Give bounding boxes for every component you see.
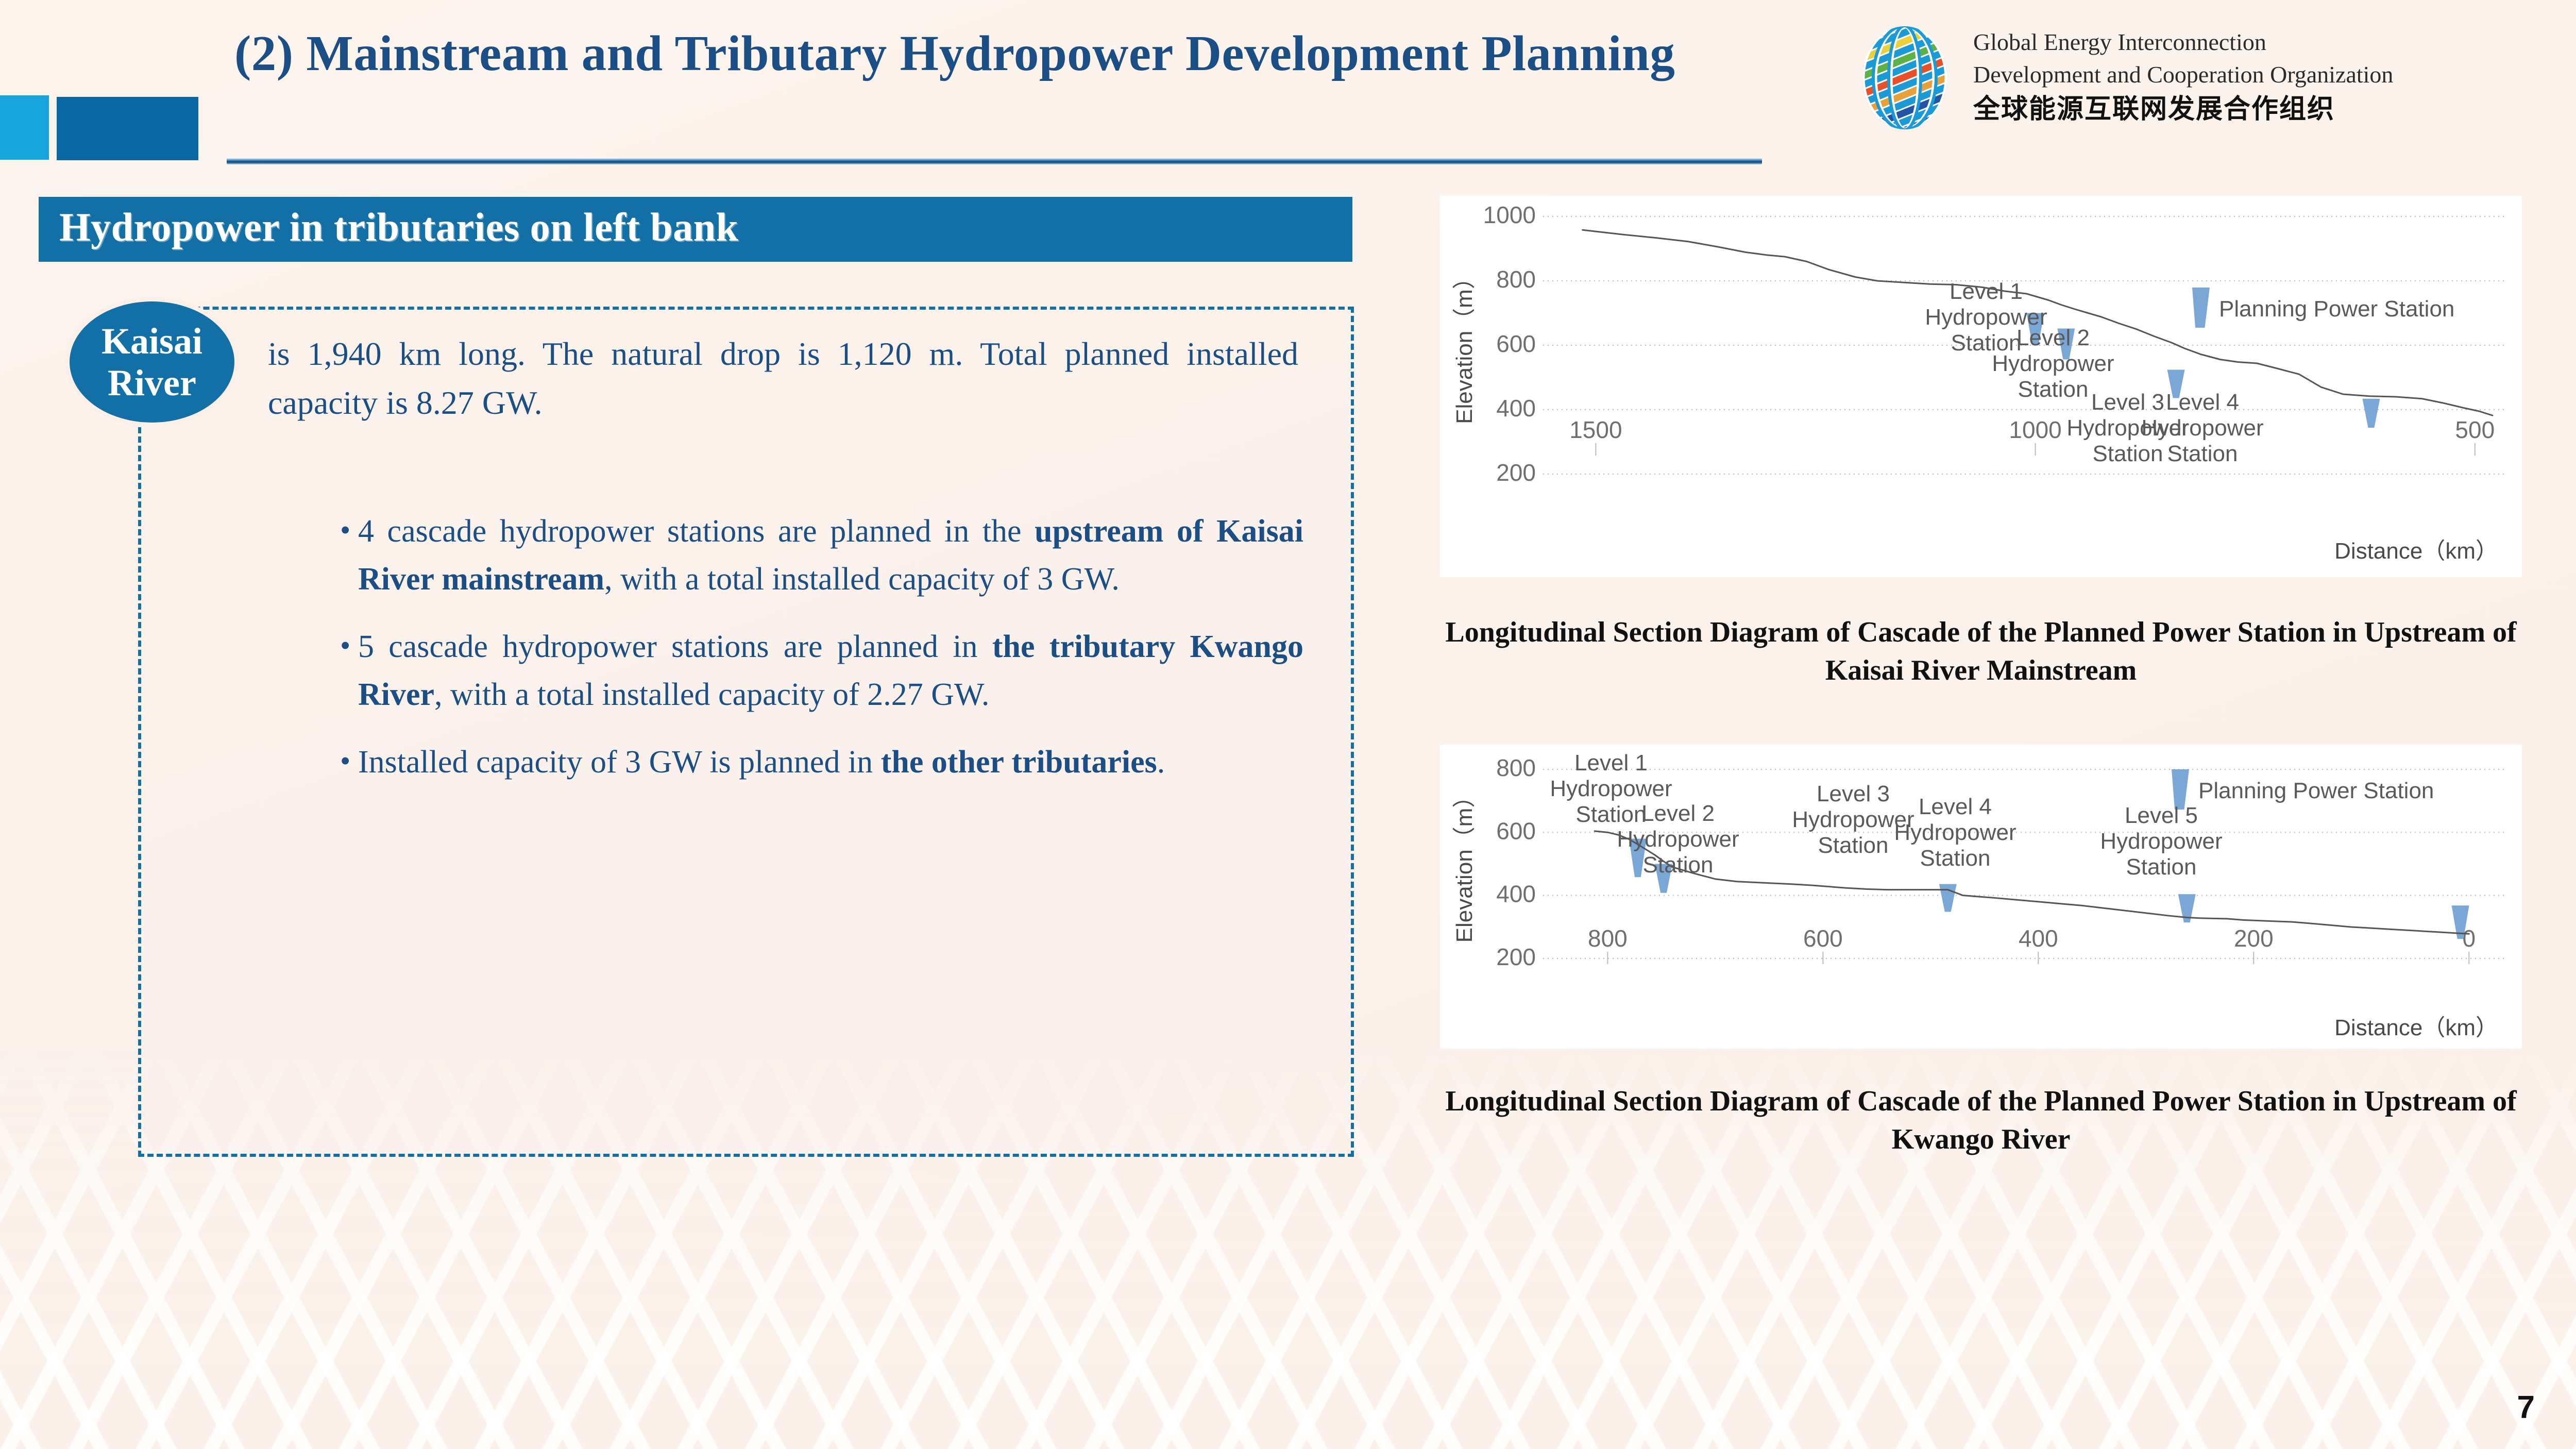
bullet-emphasis: the other tributaries — [881, 745, 1157, 780]
bullet-list: •4 cascade hydropower stations are plann… — [309, 508, 1303, 806]
logo-line-1: Global Energy Interconnection — [1973, 26, 2530, 58]
bullet-marker-icon: • — [309, 738, 358, 786]
station-label: Hydropower — [2141, 415, 2263, 441]
station-label: Station — [2018, 377, 2089, 402]
station-label: Station — [2167, 441, 2238, 466]
legend-label: Planning Power Station — [2198, 778, 2434, 803]
section-banner-label: Hydropower in tributaries on left bank — [59, 204, 738, 250]
station-label: Station — [2126, 854, 2197, 880]
y-tick-label: 400 — [1496, 395, 1536, 422]
organization-logo: Global Energy Interconnection Developmen… — [1850, 21, 2535, 131]
page-title: (2) Mainstream and Tributary Hydropower … — [234, 22, 1806, 85]
river-name-line2: River — [108, 362, 196, 404]
chart-caption-kwango: Longitudinal Section Diagram of Cascade … — [1440, 1082, 2522, 1159]
chart-kaisai-mainstream: 200400600800100015001000500Elevation（m）D… — [1440, 196, 2522, 577]
station-label: Level 3 — [2091, 390, 2164, 415]
x-tick-label: 1500 — [1569, 416, 1622, 443]
y-tick-label: 800 — [1496, 266, 1536, 293]
bullet-plain: , with a total installed capacity of 2.2… — [434, 677, 989, 712]
x-tick-label: 600 — [1803, 925, 1843, 952]
y-axis-title: Elevation（m） — [1452, 266, 1477, 424]
bullet-text: Installed capacity of 3 GW is planned in… — [358, 738, 1303, 786]
station-label: Level 4 — [2166, 390, 2239, 415]
legend-label: Planning Power Station — [2219, 296, 2454, 322]
y-axis-title: Elevation（m） — [1452, 785, 1477, 943]
x-tick-label: 400 — [2019, 925, 2058, 952]
station-label: Hydropower — [1894, 820, 2016, 845]
bullet-item: •5 cascade hydropower stations are plann… — [309, 623, 1303, 719]
station-label: Level 1 — [1574, 750, 1648, 776]
bullet-text: 5 cascade hydropower stations are planne… — [358, 623, 1303, 719]
bullet-plain: 4 cascade hydropower stations are planne… — [358, 514, 1035, 549]
section-banner: Hydropower in tributaries on left bank — [39, 197, 1352, 262]
bullet-plain: , with a total installed capacity of 3 G… — [604, 562, 1120, 597]
bullet-plain: Installed capacity of 3 GW is planned in — [358, 745, 881, 780]
station-label: Station — [1920, 846, 1991, 871]
station-label: Level 4 — [1919, 794, 1992, 819]
lead-paragraph: is 1,940 km long. The natural drop is 1,… — [268, 330, 1298, 427]
legend-swatch — [2192, 288, 2210, 328]
header-accent-block-cyan — [0, 95, 49, 160]
x-tick-label: 800 — [1588, 925, 1628, 952]
x-tick-label: 1000 — [2009, 416, 2061, 443]
station-label: Station — [1643, 852, 1714, 878]
y-tick-label: 600 — [1496, 817, 1536, 844]
station-label: Hydropower — [2100, 829, 2222, 854]
bullet-item: •4 cascade hydropower stations are plann… — [309, 508, 1303, 603]
station-label: Hydropower — [1992, 351, 2114, 376]
station-label: Hydropower — [1617, 827, 1739, 852]
chart-kwango-river: 2004006008008006004002000Elevation（m）Dis… — [1440, 745, 2522, 1049]
station-label: Station — [2093, 441, 2163, 466]
station-marker — [1939, 884, 1957, 912]
station-marker — [2362, 399, 2380, 428]
x-axis-title: Distance（km） — [2334, 1015, 2498, 1040]
y-tick-label: 1000 — [1483, 201, 1536, 228]
station-label: Level 2 — [1641, 801, 1715, 826]
chart-svg-kwango-river: 2004006008008006004002000Elevation（m）Dis… — [1440, 745, 2522, 1049]
station-label: Level 1 — [1950, 279, 2023, 304]
bullet-plain: . — [1157, 745, 1165, 780]
chart-caption-kaisai: Longitudinal Section Diagram of Cascade … — [1440, 613, 2522, 690]
bullet-item: •Installed capacity of 3 GW is planned i… — [309, 738, 1303, 786]
station-label: Hydropower — [1550, 776, 1672, 801]
chart-svg-kaisai-mainstream: 200400600800100015001000500Elevation（m）D… — [1440, 196, 2522, 577]
station-label: Station — [1576, 802, 1647, 827]
header-accent-block-blue — [57, 97, 198, 160]
logo-line-2: Development and Cooperation Organization — [1973, 58, 2530, 91]
bullet-plain: 5 cascade hydropower stations are planne… — [358, 629, 992, 664]
globe-logo-icon — [1850, 25, 1960, 130]
page-number: 7 — [2517, 1389, 2535, 1426]
x-tick-label: 200 — [2234, 925, 2274, 952]
river-name-badge: Kaisai River — [70, 301, 234, 423]
x-axis-title: Distance（km） — [2334, 538, 2498, 564]
station-label: Level 2 — [2016, 325, 2090, 350]
station-label: Level 3 — [1817, 781, 1890, 806]
river-name-line1: Kaisai — [101, 321, 202, 362]
y-tick-label: 200 — [1496, 943, 1536, 970]
x-tick-label: 500 — [2455, 416, 2495, 443]
y-tick-label: 800 — [1496, 754, 1536, 781]
bullet-text: 4 cascade hydropower stations are planne… — [358, 508, 1303, 603]
station-label: Level 5 — [2125, 803, 2198, 828]
bullet-marker-icon: • — [309, 623, 358, 719]
bullet-marker-icon: • — [309, 508, 358, 603]
y-tick-label: 200 — [1496, 459, 1536, 486]
y-tick-label: 600 — [1496, 330, 1536, 357]
station-label: Station — [1818, 833, 1889, 858]
logo-line-chinese: 全球能源互联网发展合作组织 — [1973, 91, 2530, 127]
title-underline-rule — [227, 158, 1762, 164]
y-tick-label: 400 — [1496, 881, 1536, 907]
